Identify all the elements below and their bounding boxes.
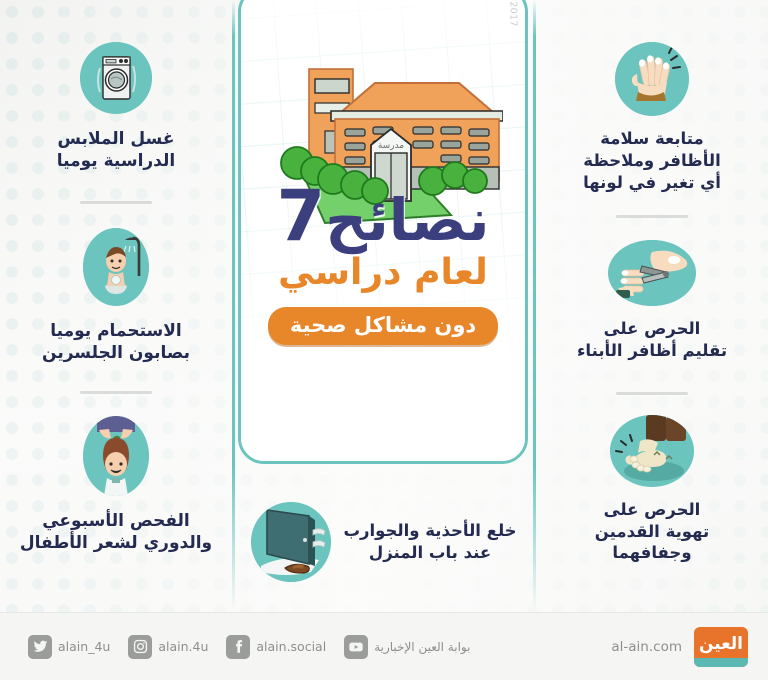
tip-feet-dry: الحرص على تهوية القدمين وجفافهما (536, 395, 768, 564)
door-shoes-icon (251, 502, 331, 582)
social-link-youtube[interactable]: بوابة العين الإخبارية (344, 635, 470, 659)
feet-shoes-icon (610, 415, 694, 487)
hair-check-icon (83, 416, 149, 496)
footer-brand: al-ain.com العين (611, 627, 748, 667)
infographic-content: غسل الملابس الدراسية يوميا (0, 0, 768, 612)
tip-trim-nails: الحرص على تقليم أظافر الأبناء (536, 218, 768, 395)
twitter-handle: alain_4u (58, 639, 110, 654)
twitter-icon (28, 635, 52, 659)
facebook-handle: alain.social (256, 639, 326, 654)
tip-feet-dry-text: الحرص على تهوية القدمين وجفافهما (595, 499, 709, 564)
social-link-twitter[interactable]: alain_4u (28, 635, 110, 659)
tip-remove-shoes: خلع الأحذية والجوارب عند باب المنزل (238, 492, 530, 592)
headline-line2: لعام دراسي (241, 253, 525, 293)
tip-wash-clothes: غسل الملابس الدراسية يوميا (0, 0, 232, 204)
youtube-icon (344, 635, 368, 659)
tip-nail-health-text: متابعة سلامة الأظافر وملاحظة أي تغير في … (583, 128, 721, 193)
social-link-instagram[interactable]: alain.4u (128, 635, 208, 659)
headline-text-nasaih: نصائح (325, 186, 489, 254)
tip-hair-check: الفحص الأسبوعي والدوري لشعر الأطفال (0, 394, 232, 555)
headline-block: نصائح7 لعام دراسي دون مشاكل صحية (241, 181, 525, 345)
tip-daily-shower: الاستحمام يوميا بصابون الجلسرين (0, 204, 232, 394)
social-links: alain_4u alain.4u alai (28, 635, 470, 659)
watermark: © www.al-ain.com 2016 - 2017 (508, 0, 519, 27)
instagram-handle: alain.4u (158, 639, 208, 654)
tip-remove-shoes-text: خلع الأحذية والجوارب عند باب المنزل (343, 520, 516, 564)
headline-number: 7 (276, 175, 325, 257)
headline-card: © www.al-ain.com 2016 - 2017 (238, 0, 528, 464)
tips-column-right: متابعة سلامة الأظافر وملاحظة أي تغير في … (536, 0, 768, 612)
tip-wash-clothes-text: غسل الملابس الدراسية يوميا (57, 128, 175, 173)
divider-rail-left (232, 0, 235, 612)
headline-line1: نصائح7 (241, 181, 525, 251)
footer-bar: alain_4u alain.4u alai (0, 612, 768, 680)
facebook-icon (226, 635, 250, 659)
school-sign-text: مدرسة (378, 141, 404, 151)
headline-pill: دون مشاكل صحية (268, 307, 498, 345)
tip-nail-health: متابعة سلامة الأظافر وملاحظة أي تغير في … (536, 0, 768, 218)
tips-column-left: غسل الملابس الدراسية يوميا (0, 0, 232, 612)
al-ain-logo[interactable]: العين (694, 627, 748, 667)
social-link-facebook[interactable]: alain.social (226, 635, 326, 659)
logo-teal-strip (694, 658, 748, 667)
tip-trim-nails-text: الحرص على تقليم أظافر الأبناء (577, 318, 727, 362)
youtube-handle: بوابة العين الإخبارية (374, 640, 470, 654)
tip-hair-check-text: الفحص الأسبوعي والدوري لشعر الأطفال (20, 510, 212, 555)
tip-daily-shower-text: الاستحمام يوميا بصابون الجلسرين (42, 320, 190, 365)
nail-clipper-icon (608, 240, 696, 306)
logo-text: العين (699, 634, 743, 654)
hand-nails-icon (615, 42, 689, 116)
infographic-page: غسل الملابس الدراسية يوميا (0, 0, 768, 680)
shower-icon (83, 228, 149, 306)
washing-machine-icon (80, 42, 152, 114)
instagram-icon (128, 635, 152, 659)
site-url[interactable]: al-ain.com (611, 639, 682, 655)
